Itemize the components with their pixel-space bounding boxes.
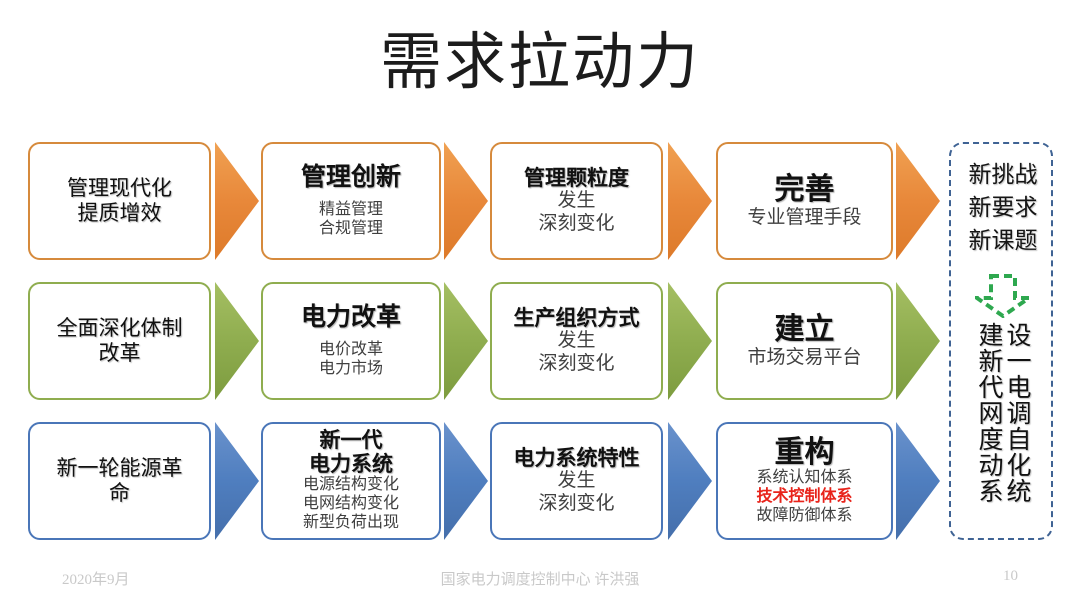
box-production-organization[interactable]: 生产组织方式 发生 深刻变化	[490, 282, 663, 400]
box-power-system-characteristics[interactable]: 电力系统特性 发生 深刻变化	[490, 422, 663, 540]
chevron-arrow-icon-r1c3	[668, 142, 712, 260]
chevron-arrow-icon-r1c2	[444, 142, 488, 260]
slide-footer: 2020年9月 国家电力调度控制中心 许洪强 10	[0, 568, 1080, 596]
box-sub-0: 电源结构变化	[303, 476, 399, 495]
outcome-panel[interactable]: 新挑战 新要求 新课题 设一电调自化统 建新代网度动系	[949, 142, 1053, 540]
slide-canvas: 需求拉动力 管理现代化 提质增效 管理创新 精益管理 合规管理	[0, 0, 1080, 608]
panel-headline-line-2: 新课题	[951, 224, 1055, 257]
box-sub-2: 新型负荷出现	[303, 514, 399, 533]
box-title-line2: 提质增效	[78, 201, 162, 226]
box-sub-0: 发生	[557, 190, 595, 212]
box-title-line2: 命	[109, 481, 130, 506]
chevron-arrow-icon-r2c4	[896, 282, 940, 400]
box-title-line1: 新一轮能源革	[57, 456, 183, 481]
footer-page-number: 10	[1003, 568, 1018, 585]
page-title: 需求拉动力	[0, 26, 1080, 100]
box-sub-2: 故障防御体系	[756, 507, 852, 526]
box-sub-0: 发生	[557, 330, 595, 352]
box-sub-1: 电力市场	[319, 360, 383, 379]
box-title-line1: 管理现代化	[67, 176, 172, 201]
box-lead-line1: 新一代	[320, 429, 383, 453]
box-management-modernization[interactable]: 管理现代化 提质增效	[28, 142, 211, 260]
chevron-arrow-icon-r2c2	[444, 282, 488, 400]
green-dashed-down-arrow-icon	[975, 274, 1031, 318]
box-sub-1: 深刻变化	[538, 353, 614, 375]
box-sub-1: 深刻变化	[538, 493, 614, 515]
box-perfect[interactable]: 完善 专业管理手段	[716, 142, 893, 260]
panel-vertical-text: 设一电调自化统 建新代网度动系	[951, 322, 1055, 532]
box-title-line2: 改革	[99, 341, 141, 366]
box-lead: 重构	[775, 436, 835, 470]
panel-vertical-column-right: 设一电调自化统	[1004, 322, 1030, 532]
box-system-reform[interactable]: 全面深化体制 改革	[28, 282, 211, 400]
box-sub-1: 深刻变化	[538, 213, 614, 235]
box-reconstruct[interactable]: 重构 系统认知体系 技术控制体系 故障防御体系	[716, 422, 893, 540]
box-lead: 建立	[775, 313, 835, 347]
box-lead: 生产组织方式	[514, 307, 640, 331]
box-new-generation-power-system[interactable]: 新一代 电力系统 电源结构变化 电网结构变化 新型负荷出现	[261, 422, 441, 540]
chevron-arrow-icon-r2c3	[668, 282, 712, 400]
box-sub-0: 市场交易平台	[747, 347, 861, 369]
box-establish[interactable]: 建立 市场交易平台	[716, 282, 893, 400]
chevron-arrow-icon-r1c1	[215, 142, 259, 260]
box-management-granularity[interactable]: 管理颗粒度 发生 深刻变化	[490, 142, 663, 260]
box-title-line1: 全面深化体制	[57, 316, 183, 341]
box-lead: 完善	[775, 173, 835, 207]
chevron-arrow-icon-r1c4	[896, 142, 940, 260]
box-sub-1-highlight: 技术控制体系	[756, 488, 852, 507]
panel-headline-line-1: 新要求	[951, 191, 1055, 224]
panel-vertical-column-left: 建新代网度动系	[976, 322, 1002, 532]
box-lead: 电力系统特性	[514, 447, 640, 471]
footer-author: 国家电力调度控制中心 许洪强	[0, 568, 1080, 589]
chevron-arrow-icon-r3c2	[444, 422, 488, 540]
chevron-arrow-icon-r3c3	[668, 422, 712, 540]
panel-headline-line-0: 新挑战	[951, 158, 1055, 191]
box-sub-1: 电网结构变化	[303, 495, 399, 514]
chevron-arrow-icon-r3c4	[896, 422, 940, 540]
box-management-innovation[interactable]: 管理创新 精益管理 合规管理	[261, 142, 441, 260]
box-sub-0: 系统认知体系	[756, 469, 852, 488]
box-energy-revolution[interactable]: 新一轮能源革 命	[28, 422, 211, 540]
box-sub-1: 合规管理	[319, 220, 383, 239]
chevron-arrow-icon-r3c1	[215, 422, 259, 540]
box-sub-0: 精益管理	[319, 201, 383, 220]
box-sub-0: 专业管理手段	[747, 207, 861, 229]
box-lead: 管理颗粒度	[524, 167, 629, 191]
panel-headline: 新挑战 新要求 新课题	[951, 158, 1055, 257]
box-power-reform[interactable]: 电力改革 电价改革 电力市场	[261, 282, 441, 400]
box-sub-0: 电价改革	[319, 341, 383, 360]
box-lead: 电力改革	[301, 303, 401, 331]
box-lead: 管理创新	[301, 163, 401, 191]
box-sub-0: 发生	[557, 470, 595, 492]
chevron-arrow-icon-r2c1	[215, 282, 259, 400]
box-lead-line2: 电力系统	[309, 453, 393, 477]
